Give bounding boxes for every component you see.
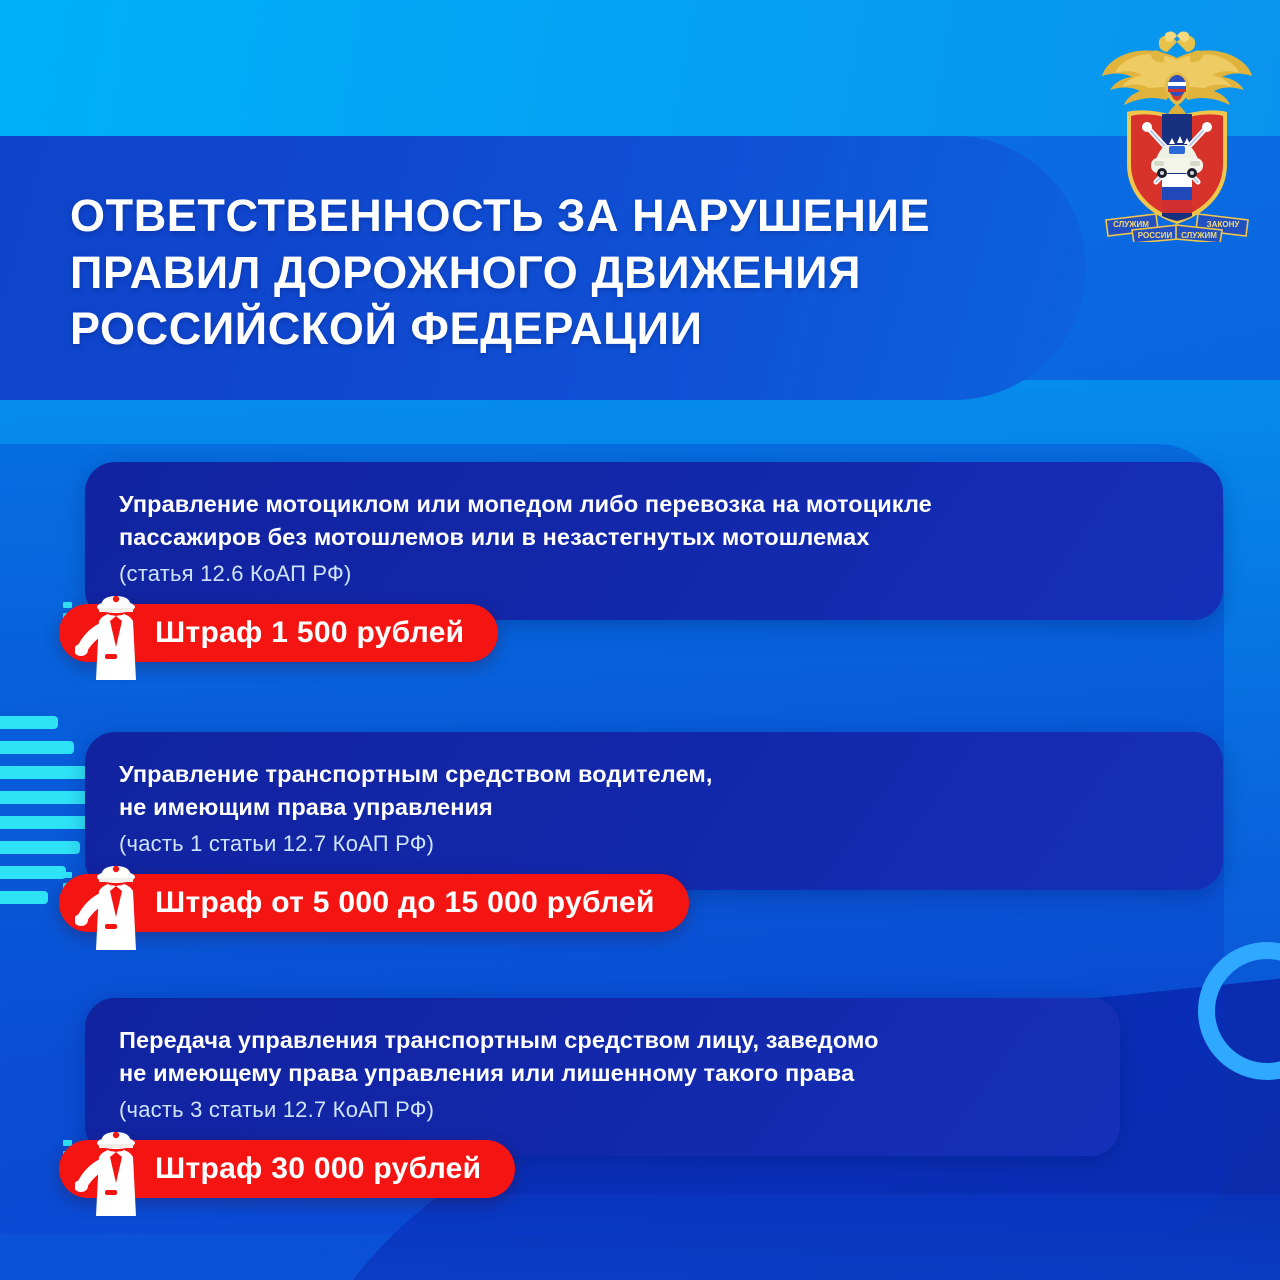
police-officer-icon: [75, 1126, 147, 1216]
violation-line: Передача управления транспортным средств…: [119, 1024, 1086, 1057]
violation-reference: (часть 3 статьи 12.7 КоАП РФ): [119, 1095, 1086, 1126]
violation-line: не имеющему права управления или лишенно…: [119, 1057, 1086, 1090]
fine-badge: Штраф от 5 000 до 15 000 рублей: [59, 874, 689, 932]
police-officer-icon: [75, 590, 147, 680]
fine-badge: Штраф 30 000 рублей: [59, 1140, 515, 1198]
violation-item: Передача управления транспортным средств…: [85, 998, 1120, 1198]
poster-root: СЛУЖИМ ЗАКОНУ РОССИИ СЛУЖИМ ОТВЕТСТВЕННО…: [0, 0, 1280, 1280]
violation-card: Управление транспортным средством водите…: [85, 732, 1223, 890]
violations-list: Управление мотоциклом или мопедом либо п…: [0, 0, 1280, 1280]
fine-amount: Штраф от 5 000 до 15 000 рублей: [155, 888, 655, 918]
violation-line: Управление мотоциклом или мопедом либо п…: [119, 488, 1189, 521]
fine-amount: Штраф 1 500 рублей: [155, 618, 464, 648]
violation-line: не имеющим права управления: [119, 791, 1189, 824]
violation-line: Управление транспортным средством водите…: [119, 758, 1189, 791]
violation-item: Управление транспортным средством водите…: [85, 732, 1223, 932]
fine-badge: Штраф 1 500 рублей: [59, 604, 498, 662]
violation-card: Управление мотоциклом или мопедом либо п…: [85, 462, 1223, 620]
violation-card: Передача управления транспортным средств…: [85, 998, 1120, 1156]
violation-item: Управление мотоциклом или мопедом либо п…: [85, 462, 1223, 662]
fine-amount: Штраф 30 000 рублей: [155, 1154, 481, 1184]
violation-line: пассажиров без мотошлемов или в незастег…: [119, 521, 1189, 554]
police-officer-icon: [75, 860, 147, 950]
violation-reference: (часть 1 статьи 12.7 КоАП РФ): [119, 829, 1189, 860]
violation-reference: (статья 12.6 КоАП РФ): [119, 559, 1189, 590]
